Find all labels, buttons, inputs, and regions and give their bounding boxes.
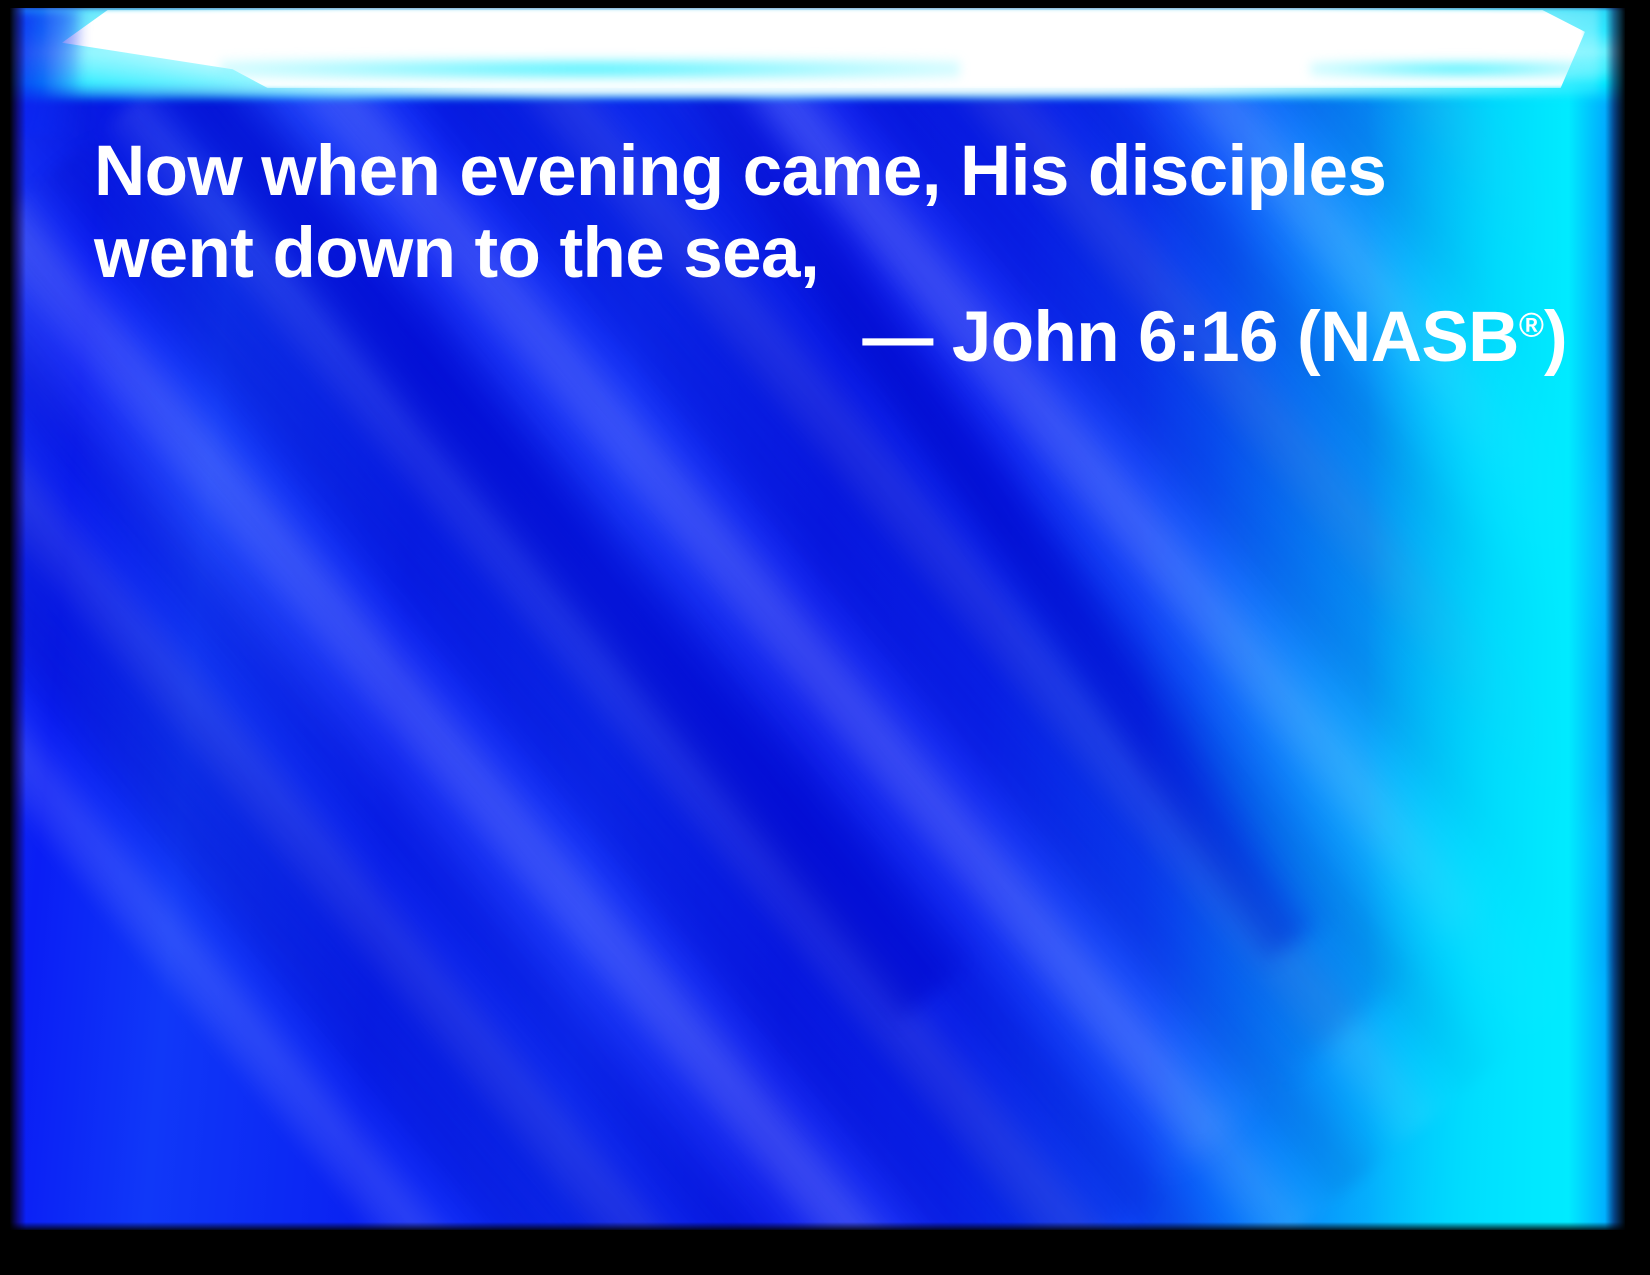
artwork-left-edge-shadow [10, 8, 26, 1230]
artwork-bottom-edge-shadow [10, 1222, 1625, 1230]
top-glow-band [10, 8, 1625, 140]
top-band-cyan-lens-2 [1310, 60, 1610, 78]
artwork-right-edge-shadow [1605, 8, 1625, 1230]
scripture-slide: Now when evening came, His disciples wen… [0, 0, 1650, 1275]
slide-artwork: Now when evening came, His disciples wen… [10, 8, 1625, 1230]
background-cyan-right-glow [10, 8, 1625, 1230]
top-band-cyan-lens-1 [220, 58, 960, 80]
